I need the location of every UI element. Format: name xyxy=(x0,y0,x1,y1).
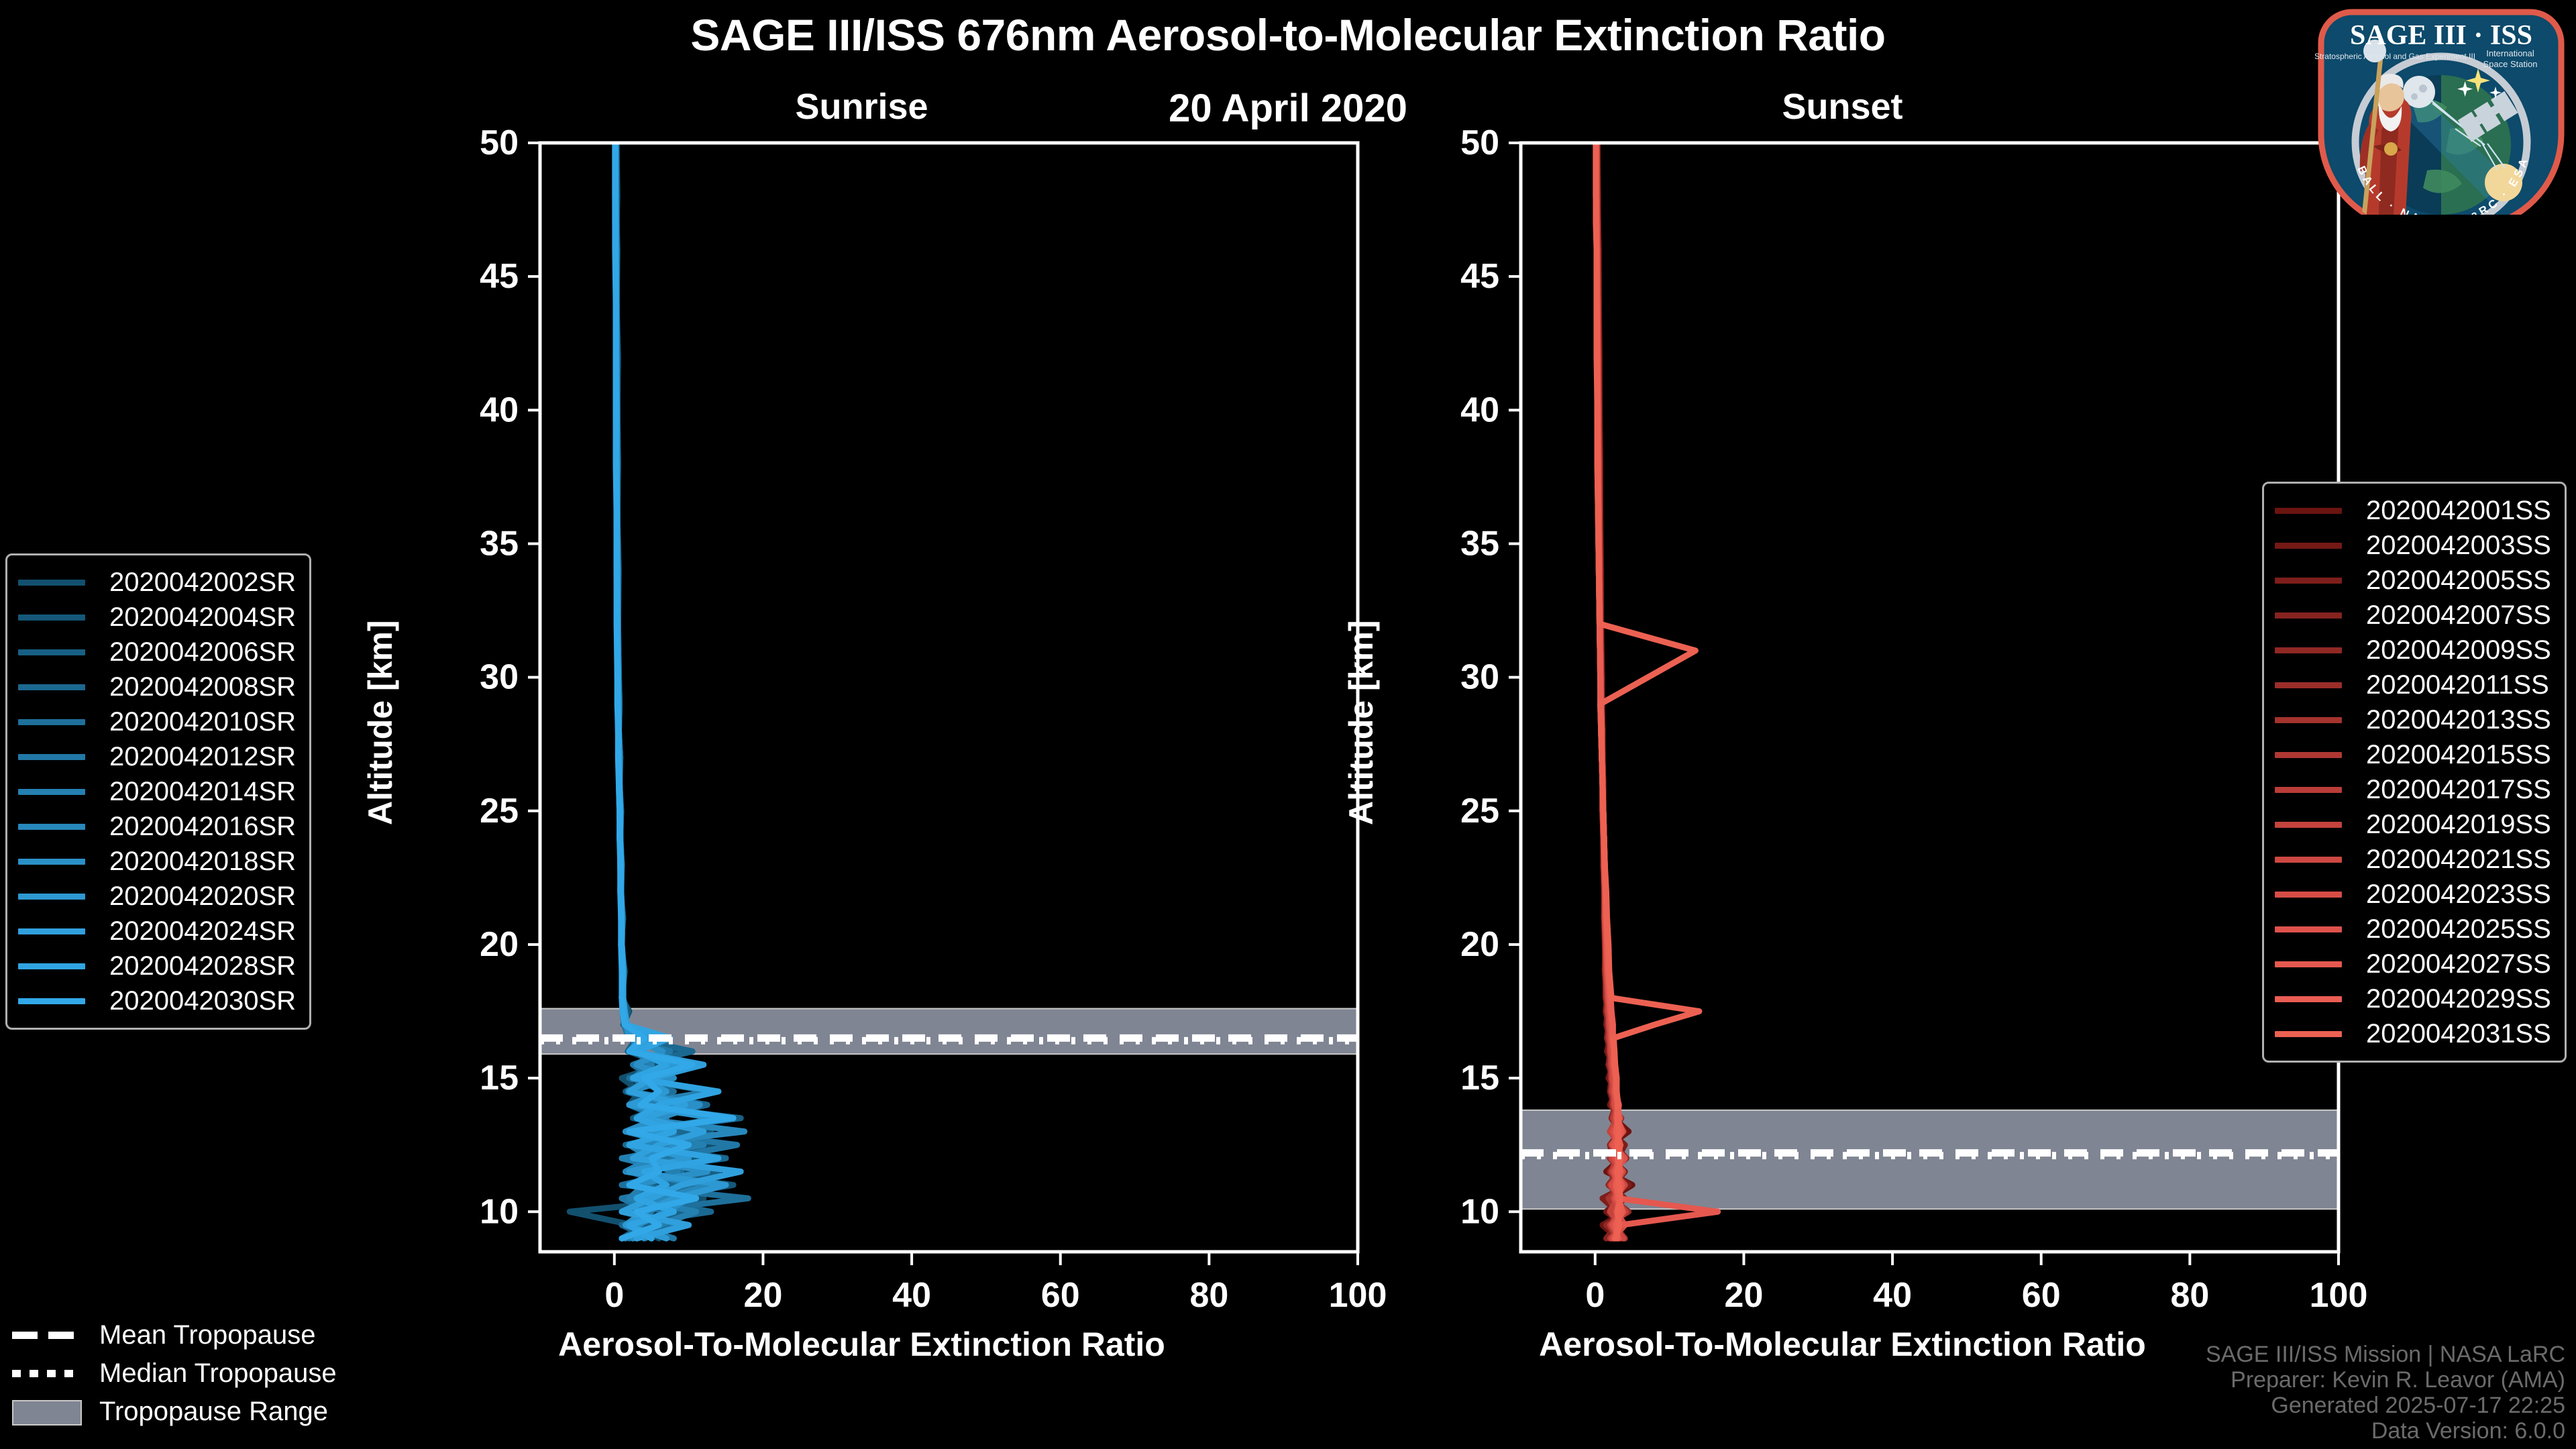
legend-color-swatch xyxy=(2275,822,2342,828)
y-tick-label: 50 xyxy=(1460,123,1499,162)
legend-label: 2020042007SS xyxy=(2366,600,2551,631)
legend-item[interactable]: 2020042003SS xyxy=(2275,528,2551,563)
legend-label: 2020042013SS xyxy=(2366,705,2551,735)
y-tick-label: 20 xyxy=(480,925,519,964)
x-tick-label: 40 xyxy=(892,1276,931,1315)
legend-label: 2020042031SS xyxy=(2366,1019,2551,1049)
legend-color-swatch xyxy=(18,614,85,621)
legend-color-swatch xyxy=(2275,578,2342,584)
figure-canvas: { "title": "SAGE III/ISS 676nm Aerosol-t… xyxy=(0,0,2576,1449)
legend-color-swatch xyxy=(2275,647,2342,653)
legend-item-median-tropopause: Median Tropopause xyxy=(12,1354,337,1393)
legend-item[interactable]: 2020042017SS xyxy=(2275,772,2551,807)
plot-svg: 101520253035404550020406080100 xyxy=(1434,143,2385,1359)
legend-label: 2020042027SS xyxy=(2366,949,2551,979)
logo-subtitle-right-2: Space Station xyxy=(2483,59,2538,69)
legend-label: 2020042011SS xyxy=(2366,670,2549,700)
y-tick-label: 40 xyxy=(480,390,519,429)
legend-item[interactable]: 2020042028SR xyxy=(18,949,296,983)
legend-item[interactable]: 2020042007SS xyxy=(2275,598,2551,633)
y-tick-label: 20 xyxy=(1460,925,1499,964)
chart-panel-sunrise: 101520253035404550020406080100 xyxy=(453,143,1271,1252)
tropopause-range-band xyxy=(1521,1110,2339,1209)
x-tick-label: 40 xyxy=(1873,1276,1912,1315)
legend-item[interactable]: 2020042013SS xyxy=(2275,702,2551,737)
legend-label: 2020042020SR xyxy=(109,881,296,912)
plot-svg: 101520253035404550020406080100 xyxy=(453,143,1405,1359)
y-tick-label: 10 xyxy=(1460,1192,1499,1231)
legend-label: 2020042023SS xyxy=(2366,879,2551,910)
legend-color-swatch xyxy=(2275,961,2342,967)
legend-item[interactable]: 2020042008SR xyxy=(18,669,296,704)
panel-title-sunset: Sunset xyxy=(1434,86,2251,127)
legend-label: 2020042024SR xyxy=(109,916,296,947)
legend-label: 2020042001SS xyxy=(2366,496,2551,526)
x-tick-label: 20 xyxy=(1725,1276,1764,1315)
legend-color-swatch xyxy=(18,719,85,725)
legend-label: 2020042003SS xyxy=(2366,531,2551,561)
x-axis-label-sunrise: Aerosol-To-Molecular Extinction Ratio xyxy=(453,1325,1271,1364)
legend-color-swatch xyxy=(18,998,85,1004)
legend-label: 2020042009SS xyxy=(2366,635,2551,665)
mission-patch-svg: SAGE III · ISS Stratospheric Aerosol and… xyxy=(2312,3,2571,215)
legend-item[interactable]: 2020042018SR xyxy=(18,844,296,879)
legend-item[interactable]: 2020042005SS xyxy=(2275,563,2551,598)
logo-brand-text: SAGE III · ISS xyxy=(2350,20,2532,51)
legend-label: 2020042019SS xyxy=(2366,810,2551,840)
y-tick-label: 30 xyxy=(1460,658,1499,697)
x-tick-label: 60 xyxy=(2022,1276,2061,1315)
logo-subtitle-left: Stratospheric Aerosol and Gas Experiment… xyxy=(2314,52,2475,61)
legend-color-swatch xyxy=(2275,787,2342,793)
legend-item[interactable]: 2020042011SS xyxy=(2275,667,2551,702)
legend-label: 2020042014SR xyxy=(109,777,296,807)
footer-line-generated: Generated 2025-07-17 22:25 xyxy=(2206,1393,2565,1418)
x-tick-label: 20 xyxy=(744,1276,783,1315)
plot-background xyxy=(1521,143,2339,1252)
logo-subtitle-right-1: International xyxy=(2486,48,2534,58)
legend-label: 2020042002SR xyxy=(109,568,296,598)
dashed-line-icon xyxy=(12,1328,82,1344)
chart-panel-sunset: 101520253035404550020406080100 xyxy=(1434,143,2251,1252)
legend-color-swatch xyxy=(2275,543,2342,549)
legend-label: 2020042005SS xyxy=(2366,566,2551,596)
legend-label: 2020042018SR xyxy=(109,847,296,877)
legend-item[interactable]: 2020042010SR xyxy=(18,704,296,739)
x-tick-label: 100 xyxy=(1329,1276,1387,1315)
legend-color-swatch xyxy=(18,824,85,830)
legend-item[interactable]: 2020042006SR xyxy=(18,635,296,669)
x-tick-label: 100 xyxy=(2310,1276,2368,1315)
legend-color-swatch xyxy=(18,754,85,760)
y-tick-label: 45 xyxy=(480,257,519,296)
legend-color-swatch xyxy=(2275,926,2342,932)
footer-credits: SAGE III/ISS Mission | NASA LaRC Prepare… xyxy=(2206,1342,2565,1444)
legend-color-swatch xyxy=(2275,508,2342,514)
legend-color-swatch xyxy=(18,894,85,900)
x-axis-label-sunset: Aerosol-To-Molecular Extinction Ratio xyxy=(1434,1325,2251,1364)
legend-item[interactable]: 2020042019SS xyxy=(2275,807,2551,842)
legend-sunrise[interactable]: 2020042002SR2020042004SR2020042006SR2020… xyxy=(5,553,311,1030)
legend-item[interactable]: 2020042002SR xyxy=(18,565,296,600)
legend-item[interactable]: 2020042029SS xyxy=(2275,981,2551,1016)
y-axis-label-sunset: Altitude [km] xyxy=(1342,620,1381,825)
legend-color-swatch xyxy=(2275,717,2342,723)
y-tick-label: 35 xyxy=(480,524,519,563)
y-tick-label: 25 xyxy=(480,792,519,830)
legend-label: 2020042017SS xyxy=(2366,775,2551,805)
legend-color-swatch xyxy=(2275,752,2342,758)
legend-item[interactable]: 2020042020SR xyxy=(18,879,296,914)
legend-item[interactable]: 2020042027SS xyxy=(2275,947,2551,981)
legend-color-swatch xyxy=(18,789,85,795)
y-tick-label: 15 xyxy=(480,1059,519,1097)
legend-item[interactable]: 2020042024SR xyxy=(18,914,296,949)
legend-item[interactable]: 2020042025SS xyxy=(2275,912,2551,947)
legend-label-mean-tropopause: Mean Tropopause xyxy=(99,1320,315,1350)
legend-item[interactable]: 2020042023SS xyxy=(2275,877,2551,912)
y-axis-label-sunrise: Altitude [km] xyxy=(361,620,400,825)
dotted-line-icon xyxy=(12,1366,82,1382)
legend-color-swatch xyxy=(2275,682,2342,688)
y-tick-label: 10 xyxy=(480,1192,519,1231)
y-tick-label: 35 xyxy=(1460,524,1499,563)
legend-item[interactable]: 2020042004SR xyxy=(18,600,296,635)
legend-color-swatch xyxy=(18,963,85,969)
legend-color-swatch xyxy=(18,684,85,690)
legend-color-swatch xyxy=(2275,857,2342,863)
footer-line-preparer: Preparer: Kevin R. Leavor (AMA) xyxy=(2206,1367,2565,1393)
footer-line-version: Data Version: 6.0.0 xyxy=(2206,1418,2565,1444)
x-tick-label: 0 xyxy=(1585,1276,1605,1315)
x-tick-label: 80 xyxy=(2170,1276,2209,1315)
legend-color-swatch xyxy=(18,928,85,934)
legend-label: 2020042008SR xyxy=(109,672,296,702)
footer-line-mission: SAGE III/ISS Mission | NASA LaRC xyxy=(2206,1342,2565,1367)
legend-label: 2020042012SR xyxy=(109,742,296,772)
page-title: SAGE III/ISS 676nm Aerosol-to-Molecular … xyxy=(0,9,2576,60)
legend-item[interactable]: 2020042015SS xyxy=(2275,737,2551,772)
legend-label: 2020042010SR xyxy=(109,707,296,737)
legend-color-swatch xyxy=(18,859,85,865)
legend-label: 2020042015SS xyxy=(2366,740,2551,770)
legend-item-mean-tropopause: Mean Tropopause xyxy=(12,1316,337,1354)
legend-label: 2020042004SR xyxy=(109,602,296,633)
legend-color-swatch xyxy=(18,580,85,586)
legend-label: 2020042006SR xyxy=(109,637,296,667)
tropopause-legend: Mean Tropopause Median Tropopause Tropop… xyxy=(12,1316,337,1431)
legend-color-swatch xyxy=(2275,892,2342,898)
legend-item[interactable]: 2020042012SR xyxy=(18,739,296,774)
x-tick-label: 60 xyxy=(1041,1276,1080,1315)
legend-item[interactable]: 2020042021SS xyxy=(2275,842,2551,877)
legend-item[interactable]: 2020042014SR xyxy=(18,774,296,809)
x-tick-label: 80 xyxy=(1189,1276,1228,1315)
legend-item-tropopause-range: Tropopause Range xyxy=(12,1393,337,1431)
y-tick-label: 40 xyxy=(1460,390,1499,429)
legend-item[interactable]: 2020042031SS xyxy=(2275,1016,2551,1051)
legend-item[interactable]: 2020042016SR xyxy=(18,809,296,844)
y-tick-label: 25 xyxy=(1460,792,1499,830)
legend-item[interactable]: 2020042009SS xyxy=(2275,633,2551,667)
legend-label: 2020042030SR xyxy=(109,986,296,1016)
legend-color-swatch xyxy=(2275,612,2342,619)
legend-item[interactable]: 2020042001SS xyxy=(2275,493,2551,528)
legend-label-tropopause-range: Tropopause Range xyxy=(99,1397,328,1427)
y-tick-label: 45 xyxy=(1460,257,1499,296)
y-tick-label: 30 xyxy=(480,658,519,697)
legend-color-swatch xyxy=(2275,1031,2342,1037)
legend-sunset[interactable]: 2020042001SS2020042003SS2020042005SS2020… xyxy=(2262,482,2567,1063)
y-tick-label: 50 xyxy=(480,123,519,162)
legend-label: 2020042016SR xyxy=(109,812,296,842)
legend-label: 2020042029SS xyxy=(2366,984,2551,1014)
panel-title-sunrise: Sunrise xyxy=(453,86,1271,127)
y-tick-label: 15 xyxy=(1460,1059,1499,1097)
legend-item[interactable]: 2020042030SR xyxy=(18,983,296,1018)
legend-label-median-tropopause: Median Tropopause xyxy=(99,1358,337,1389)
legend-label: 2020042028SR xyxy=(109,951,296,981)
sage-iii-iss-mission-patch-logo: SAGE III · ISS Stratospheric Aerosol and… xyxy=(2312,3,2571,215)
legend-color-swatch xyxy=(18,649,85,655)
legend-label: 2020042025SS xyxy=(2366,914,2551,945)
filled-band-icon xyxy=(12,1404,82,1420)
x-tick-label: 0 xyxy=(604,1276,624,1315)
legend-label: 2020042021SS xyxy=(2366,845,2551,875)
legend-color-swatch xyxy=(2275,996,2342,1002)
